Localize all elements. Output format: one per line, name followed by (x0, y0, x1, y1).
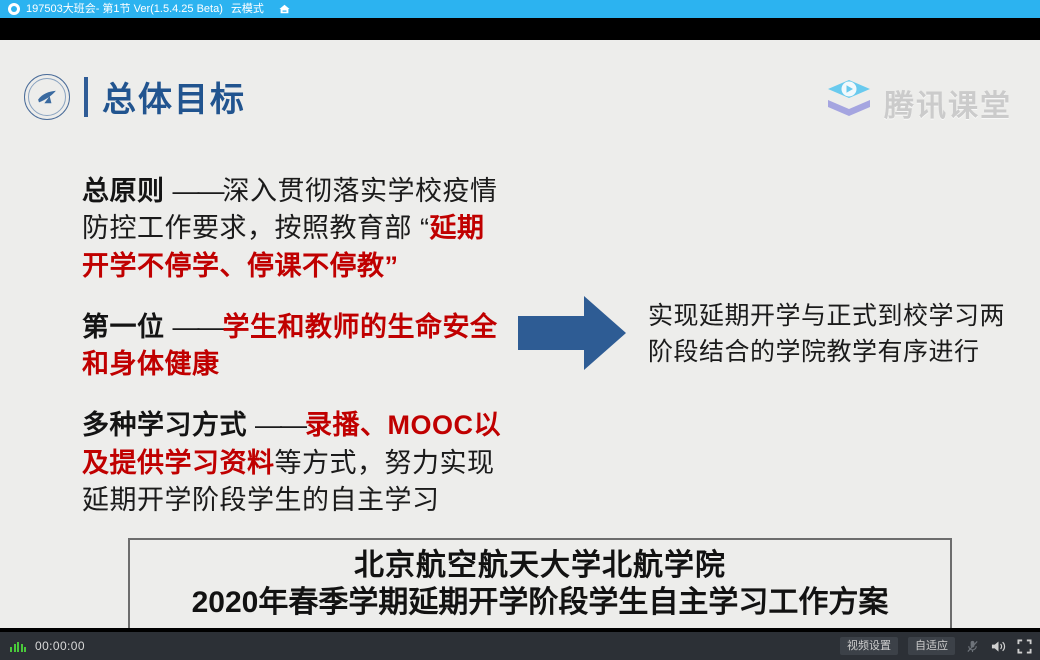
session-title: 197503大班会- 第1节 Ver(1.5.4.25 Beta) (26, 0, 223, 18)
presentation-slide: 总体目标 腾讯课堂 总原则 ——深入贯彻落实学校疫情 (0, 40, 1040, 628)
audio-level-meter (10, 641, 26, 652)
buaa-seal-logo (24, 74, 70, 120)
app-window: 197503大班会- 第1节 Ver(1.5.4.25 Beta) 云模式 总体 (0, 0, 1040, 660)
control-bar-right: 视频设置 自适应 (840, 637, 1032, 655)
document-title-line2: 2020年春季学期延期开学阶段学生自主学习工作方案 (192, 584, 889, 622)
paragraph-principle: 总原则 ——深入贯彻落实学校疫情防控工作要求，按照教育部 “延期开学不停学、停课… (82, 173, 502, 285)
elapsed-time: 00:00:00 (35, 639, 85, 653)
slide-body: 总原则 ——深入贯彻落实学校疫情防控工作要求，按照教育部 “延期开学不停学、停课… (82, 173, 502, 543)
page-title: 总体目标 (102, 72, 246, 121)
paragraph-quote-close: ” (385, 251, 399, 281)
conclusion-text: 实现延期开学与正式到校学习两阶段结合的学院教学有序进行 (648, 298, 1026, 371)
paragraph-lead: 多种学习方式 (82, 410, 247, 440)
fullscreen-icon[interactable] (1017, 639, 1032, 654)
speaker-icon[interactable] (990, 639, 1007, 654)
paragraph-lead: 第一位 (82, 312, 165, 342)
tencent-classroom-label: 腾讯课堂 (884, 81, 1012, 125)
microphone-muted-icon[interactable] (965, 639, 980, 654)
paragraph-dash: —— (173, 312, 223, 342)
paragraph-priority: 第一位 ——学生和教师的生命安全和身体健康 (82, 309, 502, 384)
player-control-bar: 00:00:00 视频设置 自适应 (0, 632, 1040, 660)
video-settings-button[interactable]: 视频设置 (840, 637, 898, 655)
cloud-mode-label: 云模式 (231, 0, 264, 18)
right-arrow-icon (518, 294, 626, 372)
paragraph-dash: —— (173, 176, 223, 206)
document-title-box: 北京航空航天大学北航学院 2020年春季学期延期开学阶段学生自主学习工作方案 (128, 538, 952, 628)
paragraph-dash: —— (255, 410, 305, 440)
tencent-classroom-icon (8, 3, 20, 15)
resolution-button[interactable]: 自适应 (908, 637, 955, 655)
paragraph-lead: 总原则 (82, 176, 165, 206)
tencent-classroom-watermark: 腾讯课堂 (826, 78, 1012, 127)
home-icon[interactable] (278, 3, 291, 16)
tencent-classroom-logo-icon (826, 78, 872, 127)
slide-header: 总体目标 (24, 72, 246, 121)
titlebar: 197503大班会- 第1节 Ver(1.5.4.25 Beta) 云模式 (0, 0, 1040, 18)
header-accent-bar (84, 77, 88, 117)
paragraph-methods: 多种学习方式 ——录播、MOOC以及提供学习资料等方式，努力实现延期开学阶段学生… (82, 407, 502, 519)
control-bar-left: 00:00:00 (10, 639, 85, 653)
document-title-line1: 北京航空航天大学北航学院 (354, 547, 726, 585)
video-stage[interactable]: 总体目标 腾讯课堂 总原则 ——深入贯彻落实学校疫情 (0, 18, 1040, 632)
